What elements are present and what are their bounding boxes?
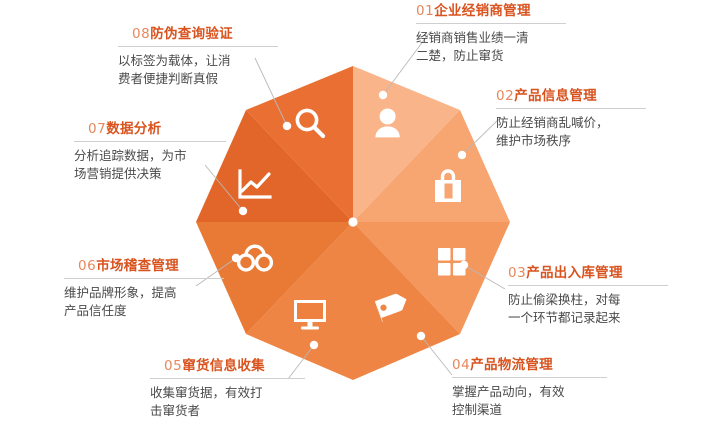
callout-06-number: 06 [78,258,96,274]
callout-03-rule [508,285,668,286]
callout-07-number: 07 [88,121,106,137]
callout-07[interactable]: 07数据分析 分析追踪数据，为市 场营销提供决策 [74,121,226,183]
callout-06[interactable]: 06市场稽查管理 维护品牌形象，提高 产品信任度 [64,258,224,320]
anchor-dot-center [348,217,357,226]
callout-03-number: 03 [508,265,526,281]
callout-01-title: 企业经销商管理 [434,3,531,19]
anchor-dot-01 [379,91,387,99]
callout-08-number: 08 [132,26,150,42]
callout-05-rule [150,378,305,379]
callout-01-desc: 经销商销售业绩一清 二楚，防止窜货 [416,29,566,65]
callout-03-heading: 03产品出入库管理 [508,265,668,285]
callout-05-title: 窜货信息收集 [182,358,265,374]
callout-02[interactable]: 02产品信息管理 防止经销商乱喊价， 维护市场秩序 [496,88,646,150]
callout-06-desc: 维护品牌形象，提高 产品信任度 [64,284,224,320]
callout-04-desc: 掌握产品动向，有效 控制渠道 [452,383,607,419]
callout-01[interactable]: 01企业经销商管理 经销商销售业绩一清 二楚，防止窜货 [416,3,566,65]
callout-05[interactable]: 05窜货信息收集 收集窜货据，有效打 击窜货者 [150,358,305,420]
callout-05-desc: 收集窜货据，有效打 击窜货者 [150,384,305,420]
anchor-dot-02 [458,151,466,159]
callout-04[interactable]: 04产品物流管理 掌握产品动向，有效 控制渠道 [452,357,607,419]
callout-08[interactable]: 08防伪查询验证 以标签为载体，让消 费者便捷判断真假 [118,26,278,88]
callout-06-heading: 06市场稽查管理 [64,258,224,278]
callout-03-desc: 防止偷梁换柱，对每 一个环节都记录起来 [508,291,668,327]
callout-07-rule [74,141,226,142]
callout-08-desc: 以标签为载体，让消 费者便捷判断真假 [118,52,278,88]
infographic-canvas: 01企业经销商管理 经销商销售业绩一清 二楚，防止窜货 02产品信息管理 防止经… [0,0,705,433]
callout-07-title: 数据分析 [106,121,161,137]
callout-07-desc: 分析追踪数据，为市 场营销提供决策 [74,147,226,183]
callout-06-rule [64,278,224,279]
callout-03[interactable]: 03产品出入库管理 防止偷梁换柱，对每 一个环节都记录起来 [508,265,668,327]
callout-04-heading: 04产品物流管理 [452,357,607,377]
callout-07-heading: 07数据分析 [74,121,226,141]
callout-06-title: 市场稽查管理 [96,258,179,274]
callout-08-title: 防伪查询验证 [150,26,233,42]
anchor-dot-05 [310,341,318,349]
callout-05-heading: 05窜货信息收集 [150,358,305,378]
anchor-dot-08 [283,122,291,130]
callout-02-rule [496,108,646,109]
callout-04-title: 产品物流管理 [470,357,553,373]
callout-03-title: 产品出入库管理 [526,265,623,281]
callout-02-title: 产品信息管理 [514,88,597,104]
anchor-dot-04 [417,332,425,340]
anchor-dot-07 [239,207,247,215]
callout-04-number: 04 [452,357,470,373]
callout-08-rule [118,46,278,47]
callout-02-heading: 02产品信息管理 [496,88,646,108]
callout-01-heading: 01企业经销商管理 [416,3,566,23]
callout-01-number: 01 [416,3,434,19]
callout-08-heading: 08防伪查询验证 [118,26,278,46]
callout-05-number: 05 [164,358,182,374]
callout-01-rule [416,23,566,24]
callout-02-number: 02 [496,88,514,104]
callout-04-rule [452,377,607,378]
callout-02-desc: 防止经销商乱喊价， 维护市场秩序 [496,114,646,150]
